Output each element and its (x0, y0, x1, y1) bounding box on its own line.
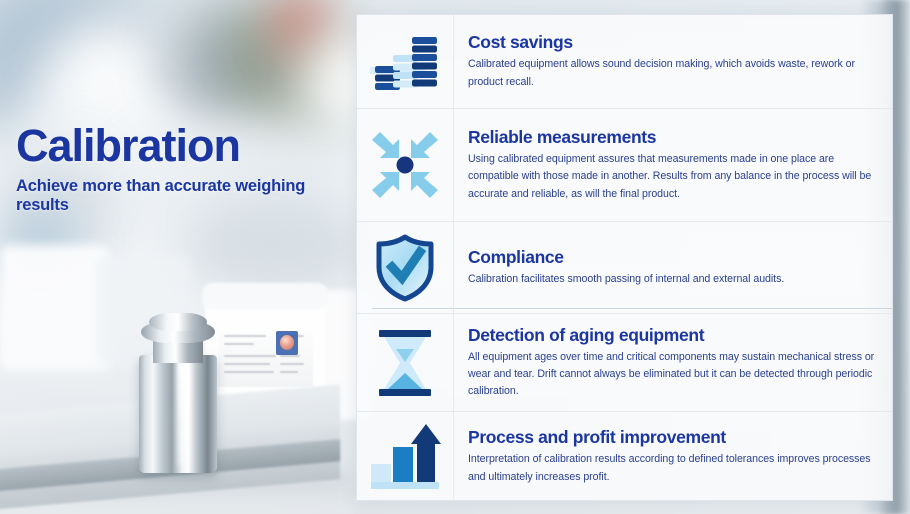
shield-check-icon (374, 234, 436, 302)
benefit-card-compliance[interactable]: Compliance Calibration facilitates smoot… (357, 222, 892, 314)
weight-knob-upper (149, 313, 207, 331)
calibration-weight (133, 303, 223, 473)
hero-headline: Calibration Achieve more than accurate w… (16, 123, 356, 215)
benefit-card-reliable-measurements[interactable]: Reliable measurements Using calibrated e… (357, 109, 892, 222)
jar-brand-logo-icon (276, 331, 298, 355)
page-title: Calibration (16, 123, 356, 168)
benefit-text-cell: Cost savings Calibrated equipment allows… (454, 15, 892, 108)
growth-bar-arrow-icon (369, 422, 441, 492)
benefit-card-process-profit[interactable]: Process and profit improvement Interpret… (357, 412, 892, 501)
benefit-description: Interpretation of calibration results ac… (468, 451, 878, 485)
benefit-description: Using calibrated equipment assures that … (468, 151, 878, 202)
benefit-text-cell: Reliable measurements Using calibrated e… (454, 109, 892, 221)
benefit-text-cell: Process and profit improvement Interpret… (454, 412, 892, 501)
benefit-description: Calibrated equipment allows sound decisi… (468, 56, 878, 90)
benefit-title: Compliance (468, 247, 878, 267)
hourglass-icon (374, 327, 436, 399)
page-subtitle: Achieve more than accurate weighing resu… (16, 177, 356, 215)
benefit-title: Reliable measurements (468, 127, 878, 147)
benefit-card-aging-equipment[interactable]: Detection of aging equipment All equipme… (357, 314, 892, 412)
benefit-card-cost-savings[interactable]: Cost savings Calibrated equipment allows… (357, 15, 892, 109)
benefit-title: Process and profit improvement (468, 427, 878, 447)
weight-highlight (177, 361, 190, 465)
lab-container (0, 245, 110, 370)
converging-arrows-icon (368, 128, 442, 202)
benefit-text-cell: Detection of aging equipment All equipme… (454, 314, 892, 411)
benefit-icon-cell (357, 222, 454, 313)
reagent-jar-label (218, 325, 313, 387)
benefit-text-cell: Compliance Calibration facilitates smoot… (454, 222, 892, 313)
stacked-coins-icon (368, 31, 442, 93)
benefit-icon-cell (357, 412, 454, 501)
benefits-panel: Cost savings Calibrated equipment allows… (356, 14, 893, 501)
benefit-icon-cell (357, 314, 454, 411)
benefit-description: All equipment ages over time and critica… (468, 349, 878, 400)
benefit-icon-cell (357, 109, 454, 221)
benefit-title: Detection of aging equipment (468, 325, 878, 345)
benefit-icon-cell (357, 15, 454, 108)
benefit-title: Cost savings (468, 32, 878, 52)
benefit-description: Calibration facilitates smooth passing o… (468, 271, 878, 288)
